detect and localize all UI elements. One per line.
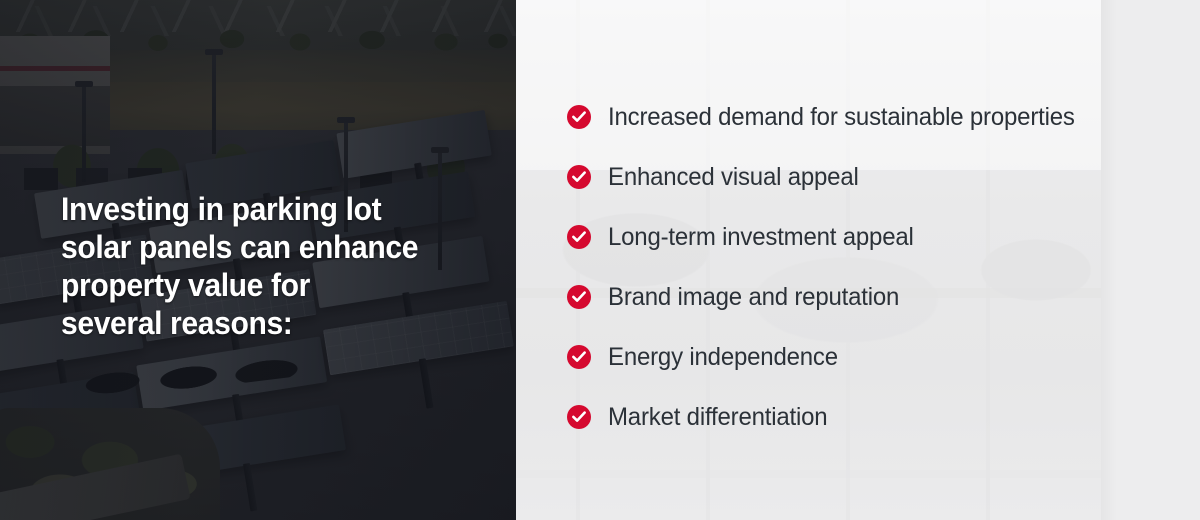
list-item: Market differentiation: [567, 402, 837, 432]
list-item: Enhanced visual appeal: [567, 162, 869, 192]
check-circle-icon: [567, 105, 591, 129]
check-circle-icon: [567, 225, 591, 249]
list-item-label: Market differentiation: [608, 402, 827, 432]
check-circle-icon: [567, 165, 591, 189]
check-circle-icon: [567, 285, 591, 309]
list-item: Energy independence: [567, 342, 847, 372]
list-item-label: Long-term investment appeal: [608, 222, 914, 252]
page-title: Investing in parking lot solar panels ca…: [61, 190, 456, 342]
list-item: Brand image and reputation: [567, 282, 911, 312]
list-item-label: Brand image and reputation: [608, 282, 899, 312]
list-item-label: Increased demand for sustainable propert…: [608, 102, 1075, 132]
list-item: Increased demand for sustainable propert…: [567, 102, 1094, 132]
list-item-label: Enhanced visual appeal: [608, 162, 859, 192]
photo-panel: Investing in parking lot solar panels ca…: [0, 0, 516, 520]
benefits-list: Increased demand for sustainable propert…: [567, 0, 1200, 520]
infographic-canvas: Investing in parking lot solar panels ca…: [0, 0, 1200, 520]
list-item-label: Energy independence: [608, 342, 838, 372]
list-item: Long-term investment appeal: [567, 222, 926, 252]
check-circle-icon: [567, 405, 591, 429]
check-circle-icon: [567, 345, 591, 369]
benefits-panel: Increased demand for sustainable propert…: [516, 0, 1200, 520]
